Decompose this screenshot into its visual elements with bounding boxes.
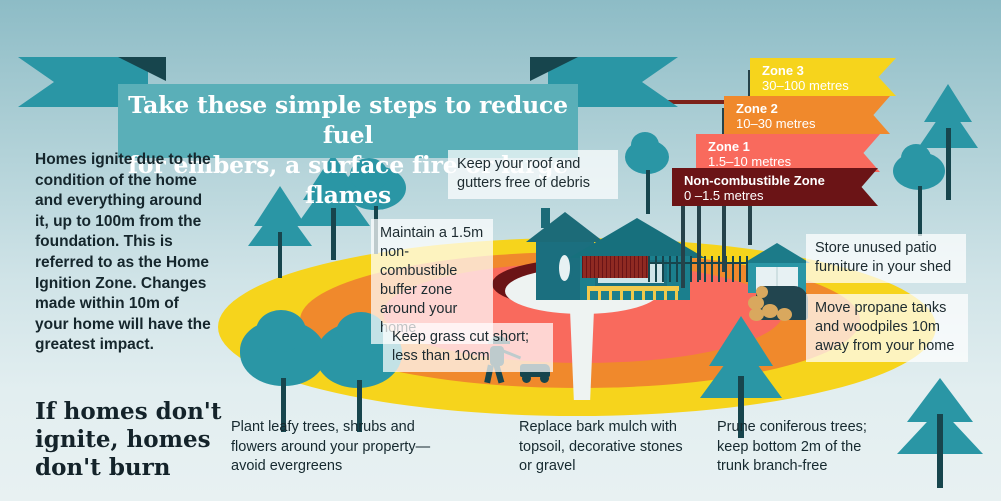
caption-prune-trees: Prune coniferous trees; keep bottom 2m o… bbox=[717, 418, 897, 477]
zone-flag-zone-1: Zone 1 1.5–10 metres bbox=[696, 134, 880, 172]
callout-grass: Keep grass cut short; less than 10cm bbox=[383, 323, 553, 372]
banner-text: Take these simple steps to reduce fuel f… bbox=[118, 84, 578, 158]
callout-roof-text: Keep your roof and gutters free of debri… bbox=[457, 156, 590, 191]
caption-mulch-text: Replace bark mulch with topsoil, decorat… bbox=[519, 419, 683, 474]
caption-bark-mulch: Replace bark mulch with topsoil, decorat… bbox=[519, 418, 699, 477]
zone-2-title: Zone 2 bbox=[736, 101, 880, 116]
non-combustible-title: Non-combustible Zone bbox=[684, 173, 868, 188]
caption-plant-text: Plant leafy trees, shrubs and flowers ar… bbox=[231, 419, 430, 474]
house bbox=[533, 208, 703, 300]
callout-patio-text: Store unused patio furniture in your she… bbox=[815, 240, 951, 275]
deciduous-tree bbox=[625, 140, 669, 218]
zone-1-title: Zone 1 bbox=[708, 139, 870, 154]
callout-roof: Keep your roof and gutters free of debri… bbox=[448, 150, 618, 199]
zone-flag-zone-2: Zone 2 10–30 metres bbox=[724, 96, 890, 134]
callout-buffer-text: Maintain a 1.5m non-combustible buffer z… bbox=[380, 225, 483, 336]
caption-prune-text: Prune coniferous trees; keep bottom 2m o… bbox=[717, 419, 867, 474]
home-ignition-zone-phrase: Home Ignition Zone bbox=[35, 254, 209, 292]
callout-grass-text: Keep grass cut short; less than 10cm bbox=[392, 329, 529, 364]
conifer-tree bbox=[918, 86, 978, 202]
zone-3-range: 30–100 metres bbox=[762, 78, 886, 93]
zone-1-range: 1.5–10 metres bbox=[708, 154, 870, 169]
callout-patio: Store unused patio furniture in your she… bbox=[806, 234, 966, 283]
banner-line-1: Take these simple steps to reduce fuel bbox=[128, 91, 568, 149]
deck-lattice bbox=[582, 256, 648, 278]
zone-flag-zone-3: Zone 3 30–100 metres bbox=[750, 58, 896, 96]
infographic-canvas: Take these simple steps to reduce fuel f… bbox=[0, 0, 1001, 501]
woodpile bbox=[748, 282, 808, 320]
zone-2-range: 10–30 metres bbox=[736, 116, 880, 131]
callout-propane: Move propane tanks and woodpiles 10m awa… bbox=[806, 294, 968, 362]
non-combustible-range: 0 –1.5 metres bbox=[684, 188, 868, 203]
page-headline: If homes don't ignite, homes don't burn bbox=[35, 398, 230, 482]
caption-plant-trees: Plant leafy trees, shrubs and flowers ar… bbox=[231, 418, 446, 477]
conifer-tree bbox=[897, 378, 983, 490]
zone-3-title: Zone 3 bbox=[762, 63, 886, 78]
zone-flag-non-combustible: Non-combustible Zone 0 –1.5 metres bbox=[672, 168, 878, 206]
shrub bbox=[240, 320, 326, 430]
callout-propane-text: Move propane tanks and woodpiles 10m awa… bbox=[815, 300, 954, 354]
header-banner: Take these simple steps to reduce fuel f… bbox=[18, 57, 678, 107]
intro-paragraph: Homes ignite due to the condition of the… bbox=[35, 150, 215, 356]
